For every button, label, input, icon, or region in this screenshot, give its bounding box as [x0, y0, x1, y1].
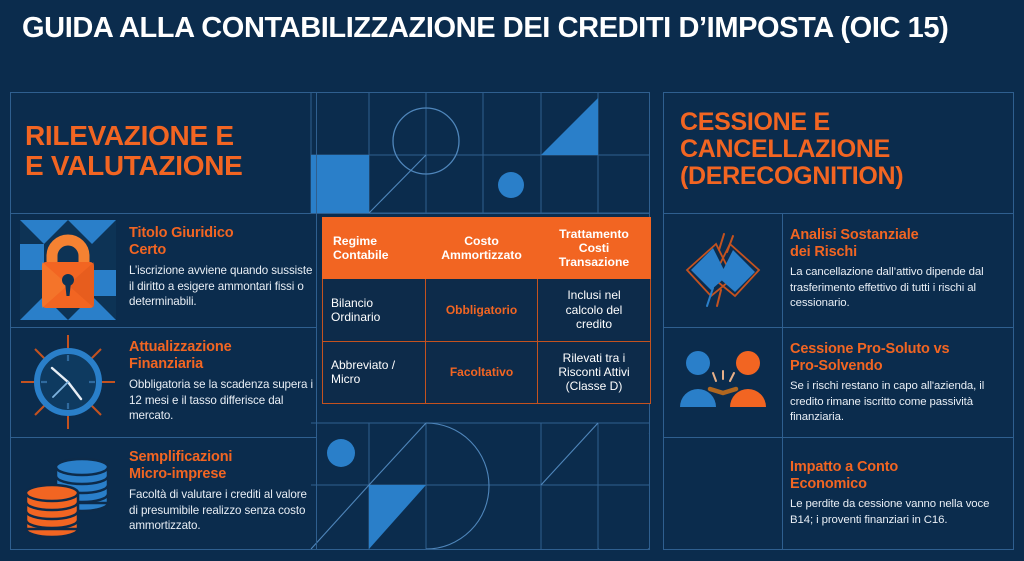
- left-row-2-body: Obbligatoria se la scadenza supera i 12 …: [129, 377, 315, 424]
- right-row-1-title: Analisi Sostanziale dei Rischi: [790, 227, 1004, 261]
- right-row-3-title: Impatto a Conto Economico: [790, 459, 1004, 493]
- table-cell-trattamento-0: Inclusi nel calcolo del credito: [538, 279, 651, 341]
- table-cell-regime-1: Abbreviato / Micro: [323, 341, 426, 403]
- left-row-2-text: Attualizzazione Finanziaria Obbligatoria…: [129, 339, 315, 424]
- table-row: Abbreviato / Micro Facoltativo Rilevati …: [323, 341, 651, 403]
- right-row-1-body: La cancellazione dall’attivo dipende dal…: [790, 265, 1004, 311]
- left-row-1-body: L’iscrizione avviene quando sussiste il …: [129, 263, 315, 310]
- left-row-attualizzazione: Attualizzazione Finanziaria Obbligatoria…: [11, 327, 316, 437]
- broken-link-icon: [664, 213, 782, 327]
- right-row-pro-soluto-solvendo: Cessione Pro-Soluto vs Pro-Solvendo Se i…: [664, 327, 1015, 437]
- clock-rays-icon: [11, 327, 125, 437]
- right-section-heading: CESSIONE E CANCELLAZIONE (DERECOGNITION): [680, 109, 903, 190]
- table-cell-trattamento-1: Rilevati tra i Risconti Attivi (Classe D…: [538, 341, 651, 403]
- left-section-heading: RILEVAZIONE E E VALUTAZIONE: [25, 121, 243, 181]
- table-header-trattamento-costi: Trattamento Costi Transazione: [538, 218, 651, 279]
- panel-cessione-cancellazione: CESSIONE E CANCELLAZIONE (DERECOGNITION): [663, 92, 1014, 550]
- regime-contabile-table: Regime Contabile Costo Ammortizzato Trat…: [322, 217, 651, 404]
- infographic-page: GUIDA ALLA CONTABILIZZAZIONE DEI CREDITI…: [0, 0, 1024, 561]
- table-header-regime-contabile: Regime Contabile: [323, 218, 426, 279]
- right-heading-line2: CANCELLAZIONE: [680, 136, 903, 163]
- table-header-row: Regime Contabile Costo Ammortizzato Trat…: [323, 218, 651, 279]
- right-row-analisi-rischi: Analisi Sostanziale dei Rischi La cancel…: [664, 213, 1015, 327]
- padlock-icon: [11, 213, 125, 327]
- left-row-3-text: Semplificazioni Micro-imprese Facoltà di…: [129, 449, 315, 534]
- left-row-3-title: Semplificazioni Micro-imprese: [129, 449, 315, 483]
- handshake-people-icon: [664, 327, 782, 437]
- left-row-1-text: Titolo Giuridico Certo L’iscrizione avvi…: [129, 225, 315, 310]
- left-row-2-title: Attualizzazione Finanziaria: [129, 339, 315, 373]
- left-row-1-title: Titolo Giuridico Certo: [129, 225, 315, 259]
- right-heading-line1: CESSIONE E: [680, 109, 903, 136]
- table-cell-regime-0: Bilancio Ordinario: [323, 279, 426, 341]
- left-row-3-body: Facoltà di valutare i crediti al valore …: [129, 487, 315, 534]
- right-row-2-body: Se i rischi restano in capo all'azienda,…: [790, 379, 1004, 425]
- right-row-impatto-conto-economico: Impatto a Conto Economico Le perdite da …: [664, 437, 1015, 549]
- left-row-titolo-giuridico: Titolo Giuridico Certo L’iscrizione avvi…: [11, 213, 316, 327]
- left-heading-line1: RILEVAZIONE E: [25, 121, 243, 151]
- panel-rilevazione-valutazione: RILEVAZIONE E E VALUTAZIONE: [10, 92, 650, 550]
- right-row-2-title: Cessione Pro-Soluto vs Pro-Solvendo: [790, 341, 1004, 375]
- right-heading-line3: (DERECOGNITION): [680, 163, 903, 190]
- table-header-costo-ammortizzato: Costo Ammortizzato: [426, 218, 538, 279]
- left-heading-line2: E VALUTAZIONE: [25, 151, 243, 181]
- right-row-3-text: Impatto a Conto Economico Le perdite da …: [790, 459, 1004, 528]
- right-row-2-text: Cessione Pro-Soluto vs Pro-Solvendo Se i…: [790, 341, 1004, 425]
- right-row-3-body: Le perdite da cessione vanno nella voce …: [790, 497, 1004, 528]
- right-row-1-text: Analisi Sostanziale dei Rischi La cancel…: [790, 227, 1004, 311]
- table-cell-costo-0: Obbligatorio: [426, 279, 538, 341]
- coin-stacks-icon: [11, 437, 125, 549]
- page-title: GUIDA ALLA CONTABILIZZAZIONE DEI CREDITI…: [22, 12, 948, 45]
- empty-icon-cell: [664, 437, 782, 549]
- left-row-semplificazioni: Semplificazioni Micro-imprese Facoltà di…: [11, 437, 316, 549]
- table-row: Bilancio Ordinario Obbligatorio Inclusi …: [323, 279, 651, 341]
- table-cell-costo-1: Facoltativo: [426, 341, 538, 403]
- left-column-divider: [316, 93, 317, 549]
